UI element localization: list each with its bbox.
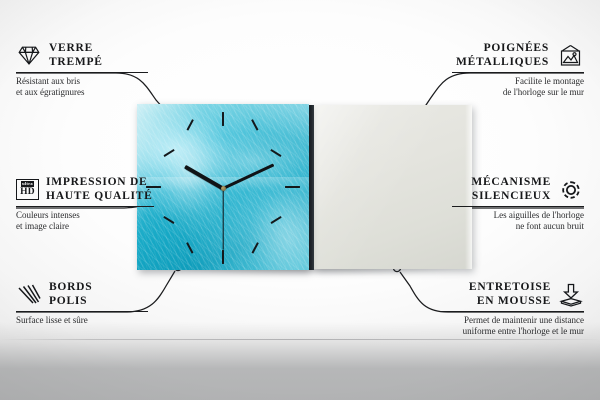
callout-mecanisme-silencieux: MÉCANISME SILENCIEUX Les aiguilles de l'… [452,176,584,232]
glass-clock-face [137,104,309,270]
callout-header: ultra HD IMPRESSION DE HAUTE QUALITÉ [16,176,154,203]
callout-bords-polis: BORDS POLIS Surface lisse et sûre [16,281,148,326]
callout-title: BORDS POLIS [49,281,92,308]
callout-description: Permet de maintenir une distance uniform… [440,315,584,337]
clock-center-pin [221,186,226,191]
callout-description: Couleurs intenses et image claire [16,210,154,232]
callout-title: POIGNÉES MÉTALLIQUES [456,42,549,69]
tick-6 [222,250,224,264]
clock-back-panel [314,105,472,269]
callout-description: Surface lisse et sûre [16,315,148,326]
tick-3 [285,186,300,188]
callout-rule [452,206,584,207]
callout-title: VERRE TREMPÉ [49,42,103,69]
ultra-hd-large-text: HD [20,188,35,198]
callout-rule [16,206,154,207]
callout-impression-haute-qualite: ultra HD IMPRESSION DE HAUTE QUALITÉ Cou… [16,176,154,232]
glass-panel-edge [309,105,314,270]
callout-description: Les aiguilles de l'horloge ne font aucun… [452,210,584,232]
callout-header: MÉCANISME SILENCIEUX [452,176,584,203]
callout-rule [16,72,148,73]
callout-header: VERRE TREMPÉ [16,42,148,69]
callout-description: Facilite le montage de l'horloge sur le … [452,76,584,98]
callout-rule [16,311,148,312]
infographic-canvas: VERRE TREMPÉ Résistant aux bris et aux é… [0,0,600,400]
polished-edges-icon [16,283,42,306]
callout-header: POIGNÉES MÉTALLIQUES [452,42,584,69]
callout-description: Résistant aux bris et aux égratignures [16,76,148,98]
callout-poignees-metalliques: POIGNÉES MÉTALLIQUES Facilite le montage… [452,42,584,98]
back-panel-sheen [314,105,472,269]
callout-title: IMPRESSION DE HAUTE QUALITÉ [46,176,153,203]
gear-icon [558,178,584,202]
callout-header: ENTRETOISE EN MOUSSE [440,281,584,308]
callout-rule [440,311,584,312]
foam-spacer-arrow-icon [558,283,584,307]
tick-12 [222,112,224,126]
callout-rule [452,72,584,73]
surface-horizon-line [0,339,600,340]
callout-header: BORDS POLIS [16,281,148,308]
callout-title: MÉCANISME SILENCIEUX [471,176,551,203]
product-image [137,104,472,272]
picture-frame-icon [556,44,584,67]
callout-title: ENTRETOISE EN MOUSSE [469,281,551,308]
second-hand [222,188,223,250]
ultra-hd-icon: ultra HD [16,179,39,200]
callout-verre-trempe: VERRE TREMPÉ Résistant aux bris et aux é… [16,42,148,98]
diamond-icon [16,44,42,67]
callout-entretoise-en-mousse: ENTRETOISE EN MOUSSE Permet de maintenir… [440,281,584,337]
